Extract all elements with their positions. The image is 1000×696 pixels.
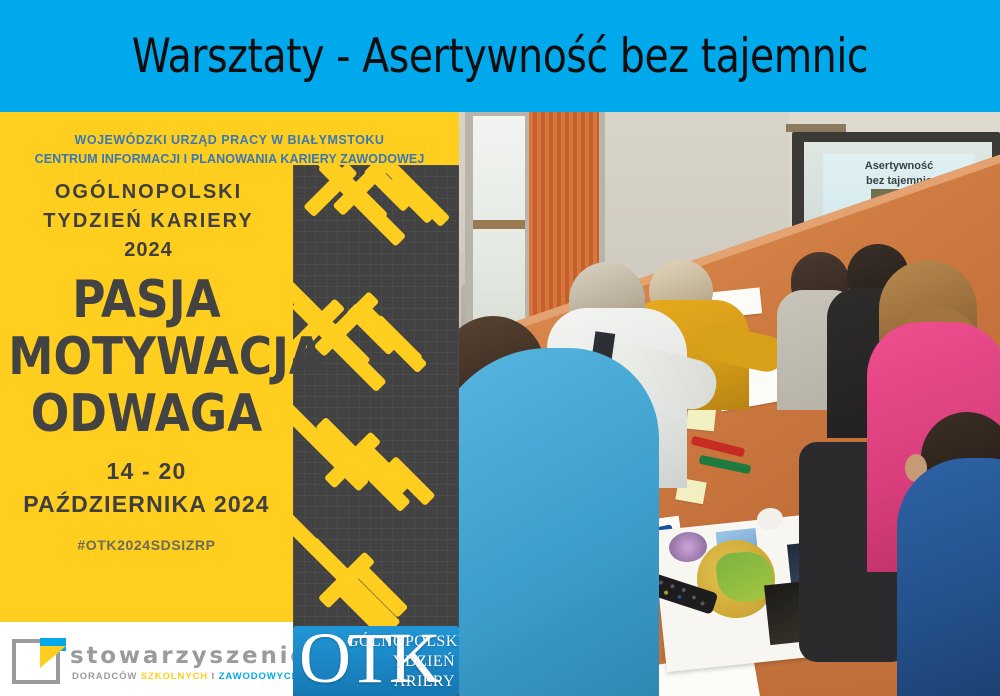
event-year: 2024 (6, 236, 291, 265)
otk-word-3: ARIERY (347, 672, 457, 692)
subtitle-part-1: DORADCÓW (72, 671, 141, 682)
slogan-line-3: ODWAGA (8, 386, 284, 443)
subtitle-part-4: ZAWODOWYCH (219, 671, 300, 682)
slogan-line-2: MOTYWACJA (8, 329, 284, 386)
participant-navy-top (897, 458, 1000, 696)
folder-cyan-yellow-icon (10, 636, 70, 688)
association-logo: stowarzyszenie DORADCÓW SZKOLNYCH I ZAWO… (6, 629, 291, 695)
dates-line-2: PAŹDZIERNIKA 2024 (4, 488, 289, 521)
dates-line-1: 14 - 20 (4, 455, 289, 488)
poster-organizer: WOJEWÓDZKI URZĄD PRACY W BIAŁYMSTOKU CEN… (0, 131, 459, 169)
poster-hashtag: #OTK2024SDSIZRP (4, 537, 289, 553)
window-mullion (473, 220, 525, 229)
header-band: Warsztaty - Asertywność bez tajemnic (0, 0, 1000, 112)
event-line-2: TYDZIEŃ KARIERY (6, 207, 291, 236)
otk-word-1: GÓLNOPOLSKI (347, 632, 457, 652)
poster-event-name: OGÓLNOPOLSKI TYDZIEŃ KARIERY 2024 (6, 178, 291, 265)
screen-mount-bar (786, 124, 846, 132)
organizer-line-1: WOJEWÓDZKI URZĄD PRACY W BIAŁYMSTOKU (0, 131, 459, 150)
event-line-1: OGÓLNOPOLSKI (6, 178, 291, 207)
yellow-triangle-shape (40, 646, 66, 668)
workshop-photo: Asertywność bez tajemnic KONTRA (459, 112, 1000, 696)
participant-blue-shirt (459, 348, 659, 696)
otk-expansion: GÓLNOPOLSKI YDZIEŃ ARIERY (347, 632, 457, 692)
organizer-line-2: CENTRUM INFORMACJI I PLANOWANIA KARIERY … (0, 150, 459, 169)
otk-logo: OTK GÓLNOPOLSKI YDZIEŃ ARIERY (293, 626, 459, 696)
subtitle-part-3: I (208, 671, 219, 682)
page-title: Warsztaty - Asertywność bez tajemnic (35, 0, 965, 112)
otk-word-2: YDZIEŃ (347, 652, 457, 672)
poster-pattern-panel (293, 165, 459, 696)
sticky-note (686, 407, 716, 432)
subtitle-part-2: SZKOLNYCH (141, 671, 208, 682)
poster-dates: 14 - 20 PAŹDZIERNIKA 2024 (4, 455, 289, 521)
poster-slogan: PASJA MOTYWACJA ODWAGA (8, 272, 284, 443)
association-subtitle: DORADCÓW SZKOLNYCH I ZAWODOWYCH RP (72, 671, 318, 682)
slogan-line-1: PASJA (8, 272, 284, 329)
otk-poster: WOJEWÓDZKI URZĄD PRACY W BIAŁYMSTOKU CEN… (0, 112, 459, 696)
association-wordmark: stowarzyszenie (70, 643, 309, 669)
slide-canvas: Warsztaty - Asertywność bez tajemnic (0, 0, 1000, 696)
